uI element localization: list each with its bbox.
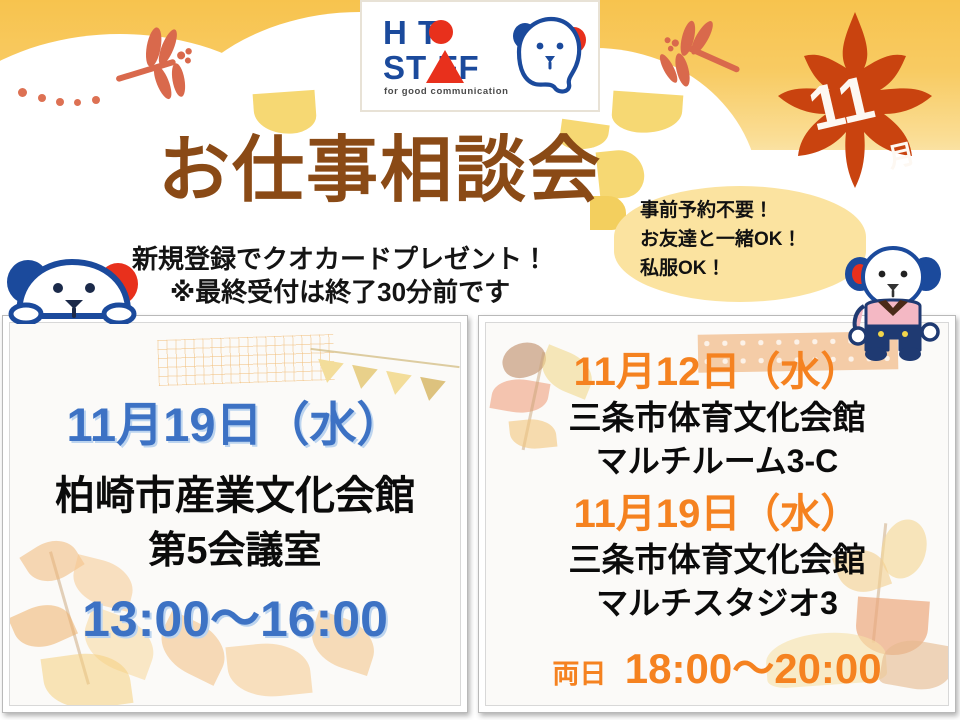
event-panel-sanjo: 11月12日（水） 三条市体育文化会館 マルチルーム3-C 11月19日（水） … xyxy=(478,315,956,713)
right-panel-time-row: 両日 18:00〜20:00 xyxy=(486,635,948,696)
info-bubble-text: 事前予約不要！ お友達と一緒OK！ 私服OK！ xyxy=(640,196,870,283)
subtitle-line-2: ※最終受付は終了30分前です xyxy=(60,275,620,309)
logo-line-1: H T xyxy=(383,16,523,49)
logo-red-triangle xyxy=(426,50,464,83)
bubble-line-3: 私服OK！ xyxy=(640,254,870,283)
right-panel-room-2: マルチスタジオ3 xyxy=(486,585,948,622)
checker-pattern-decoration xyxy=(157,334,334,386)
bubble-line-2: お友達と一緒OK！ xyxy=(640,225,870,254)
left-panel-venue: 柏崎市産業文化会館 xyxy=(10,473,460,519)
right-panel-venue-1: 三条市体育文化会館 xyxy=(486,399,948,437)
left-panel-room: 第5会議室 xyxy=(10,529,460,573)
both-days-label: 両日 xyxy=(552,659,606,689)
right-panel-date-2: 11月19日（水） xyxy=(486,491,948,537)
mascot-logo-icon xyxy=(511,14,593,98)
dragonfly-icon xyxy=(648,18,758,96)
badge-month-unit: 月 xyxy=(885,140,917,172)
subtitle-line-1: 新規登録でクオカードプレゼント！ xyxy=(60,243,620,275)
event-panel-kashiwazaki: 11月19日（水） 柏崎市産業文化会館 第5会議室 13:00〜16:00 xyxy=(2,315,468,713)
right-panel-room-1: マルチルーム3-C xyxy=(486,443,948,480)
mascot-peeking-icon xyxy=(6,246,142,324)
logo-tagline: for good communication xyxy=(384,86,509,97)
subtitle-block: 新規登録でクオカードプレゼント！ ※最終受付は終了30分前です xyxy=(60,243,620,309)
bunting-flag xyxy=(348,365,377,391)
right-panel-venue-2: 三条市体育文化会館 xyxy=(486,541,948,579)
right-panel-time: 18:00〜20:00 xyxy=(625,645,882,692)
bunting-flag xyxy=(382,371,411,397)
bunting-flag xyxy=(314,359,343,385)
mascot-character-icon xyxy=(838,244,950,362)
hot-staff-logo: H T ST FF for good communication xyxy=(360,0,600,112)
autumn-leaf-decoration xyxy=(225,639,312,701)
left-panel-date: 11月19日（水） xyxy=(10,399,460,451)
left-panel-time: 13:00〜16:00 xyxy=(10,591,460,647)
bubble-line-1: 事前予約不要！ xyxy=(640,196,870,225)
badge-month-number: 11 xyxy=(804,69,879,138)
month-badge: 11 月 xyxy=(760,8,950,193)
logo-red-circle xyxy=(429,20,453,44)
flyer-canvas: H T ST FF for good communication xyxy=(0,0,960,720)
dragonfly-icon xyxy=(108,24,218,102)
